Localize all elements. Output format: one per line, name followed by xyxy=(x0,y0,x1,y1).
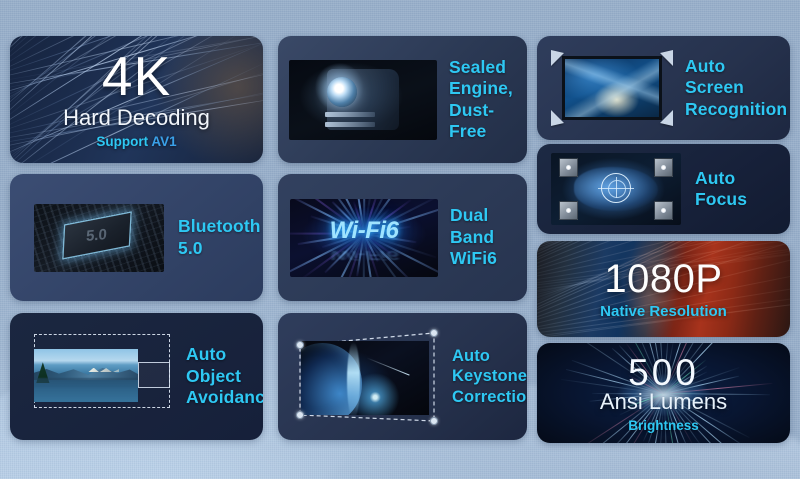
feature-card-sealed-engine[interactable]: Sealed Engine, Dust-Free xyxy=(278,36,527,163)
keystone-handle-bottom-right[interactable] xyxy=(430,417,438,425)
space-planet-image xyxy=(301,341,429,415)
auto-object-line-2: Avoidance xyxy=(186,387,263,408)
wifi6-neon-text: Wi-Fi6 xyxy=(290,217,438,245)
auto-focus-thumbnail xyxy=(551,153,681,225)
ice-cave-image xyxy=(565,59,659,117)
feature-card-brightness[interactable]: 500 Ansi Lumens Brightness xyxy=(537,343,790,443)
feature-card-auto-screen-recognition[interactable]: Auto Screen Recognition xyxy=(537,36,790,140)
auto-keystone-line-2: Keystone xyxy=(452,366,527,386)
feature-card-auto-keystone-correction[interactable]: Auto Keystone Correction xyxy=(278,313,527,440)
corner-arrow-bottom-left-icon xyxy=(551,110,564,126)
auto-focus-line-1: Auto Focus xyxy=(695,168,782,211)
focus-sensor-top-right-icon xyxy=(654,158,673,177)
sealed-engine-line-2: Engine, xyxy=(449,78,517,99)
headline-4k: 4K xyxy=(102,50,171,102)
feature-label-sealed-engine: Sealed Engine, Dust-Free xyxy=(449,57,517,142)
unit-brightness: Ansi Lumens xyxy=(600,389,727,415)
feature-card-4k[interactable]: 4K Hard Decoding Support AV1 xyxy=(10,36,263,163)
feature-card-auto-object-avoidance[interactable]: Auto Object Avoidance xyxy=(10,313,263,440)
focus-ring-icon xyxy=(601,173,631,203)
keystone-handle-bottom-left[interactable] xyxy=(296,411,304,419)
focus-sensor-bottom-right-icon xyxy=(654,201,673,220)
focus-sensor-bottom-left-icon xyxy=(559,201,578,220)
bluetooth-line-2: 5.0 xyxy=(178,238,261,259)
feature-card-auto-focus[interactable]: Auto Focus xyxy=(537,144,790,234)
sealed-engine-thumbnail xyxy=(289,60,437,140)
feature-label-auto-screen-recognition: Auto Screen Recognition xyxy=(685,56,787,120)
water-reflection-shape xyxy=(34,378,138,401)
comet-streak-shape xyxy=(366,357,409,376)
chip-version-text: 5.0 xyxy=(86,227,108,246)
auto-screen-line-1: Auto Screen xyxy=(685,56,787,99)
circuit-board-photo: 5.0 xyxy=(34,204,164,272)
wifi6-thumbnail: Wi-Fi6 Wi-Fi6 xyxy=(290,199,438,277)
feature-card-4k-text: 4K Hard Decoding Support AV1 xyxy=(10,36,263,163)
projection-screen-frame xyxy=(562,56,662,120)
planet-rim-light xyxy=(347,342,360,415)
feature-label-bluetooth: Bluetooth 5.0 xyxy=(178,216,261,259)
wifi-line-1: Dual Band xyxy=(450,205,517,248)
bluetooth-chip-thumbnail: 5.0 xyxy=(34,204,164,272)
feature-label-auto-object-avoidance: Auto Object Avoidance xyxy=(186,344,263,408)
bluetooth-line-1: Bluetooth xyxy=(178,216,261,237)
mountain-lake-image xyxy=(34,349,138,402)
auto-keystone-thumbnail xyxy=(292,323,442,431)
feature-label-auto-keystone-correction: Auto Keystone Correction xyxy=(452,346,527,406)
feature-card-native-resolution[interactable]: 1080P Native Resolution xyxy=(537,241,790,337)
caption-brightness: Brightness xyxy=(628,418,699,433)
wifi-line-2: WiFi6 xyxy=(450,248,517,269)
caption-native-resolution: Native Resolution xyxy=(600,303,727,320)
projector-engine-photo xyxy=(289,60,437,140)
note-support-av1: Support AV1 xyxy=(96,134,176,149)
auto-object-line-1: Auto Object xyxy=(186,344,263,387)
engine-detail-bar-1 xyxy=(325,112,375,117)
feature-card-brightness-text: 500 Ansi Lumens Brightness xyxy=(537,343,790,443)
value-brightness: 500 xyxy=(628,354,699,391)
note-codec-text: AV1 xyxy=(151,134,176,149)
corner-arrow-top-right-icon xyxy=(660,50,673,66)
value-native-resolution: 1080P xyxy=(604,259,722,299)
feature-label-wifi6: Dual Band WiFi6 xyxy=(450,205,517,269)
subhead-hard-decoding: Hard Decoding xyxy=(63,105,210,131)
feature-card-native-resolution-text: 1080P Native Resolution xyxy=(537,241,790,337)
corner-arrow-bottom-right-icon xyxy=(660,110,673,126)
note-support-text: Support xyxy=(96,134,151,149)
keystone-handle-top-right[interactable] xyxy=(430,329,438,337)
feature-label-auto-focus: Auto Focus xyxy=(695,168,782,211)
sealed-engine-line-1: Sealed xyxy=(449,57,517,78)
neon-light-trails-photo: Wi-Fi6 Wi-Fi6 xyxy=(290,199,438,277)
auto-screen-thumbnail xyxy=(551,48,673,128)
wifi6-neon-reflection: Wi-Fi6 xyxy=(290,247,438,262)
corner-arrow-top-left-icon xyxy=(551,50,564,66)
feature-card-bluetooth[interactable]: 5.0 Bluetooth 5.0 xyxy=(10,174,263,301)
auto-keystone-line-3: Correction xyxy=(452,387,527,407)
avoided-object-rectangle xyxy=(138,362,170,388)
sealed-engine-line-3: Dust-Free xyxy=(449,100,517,143)
feature-grid: 4K Hard Decoding Support AV1 Sealed Engi… xyxy=(0,0,800,479)
focus-sensor-top-left-icon xyxy=(559,158,578,177)
keystone-handle-top-left[interactable] xyxy=(296,341,304,349)
auto-object-avoidance-thumbnail xyxy=(34,332,176,422)
feature-card-wifi6[interactable]: Wi-Fi6 Wi-Fi6 Dual Band WiFi6 xyxy=(278,174,527,301)
engine-detail-bar-2 xyxy=(325,122,375,127)
auto-keystone-line-1: Auto xyxy=(452,346,527,366)
auto-screen-line-2: Recognition xyxy=(685,99,787,120)
